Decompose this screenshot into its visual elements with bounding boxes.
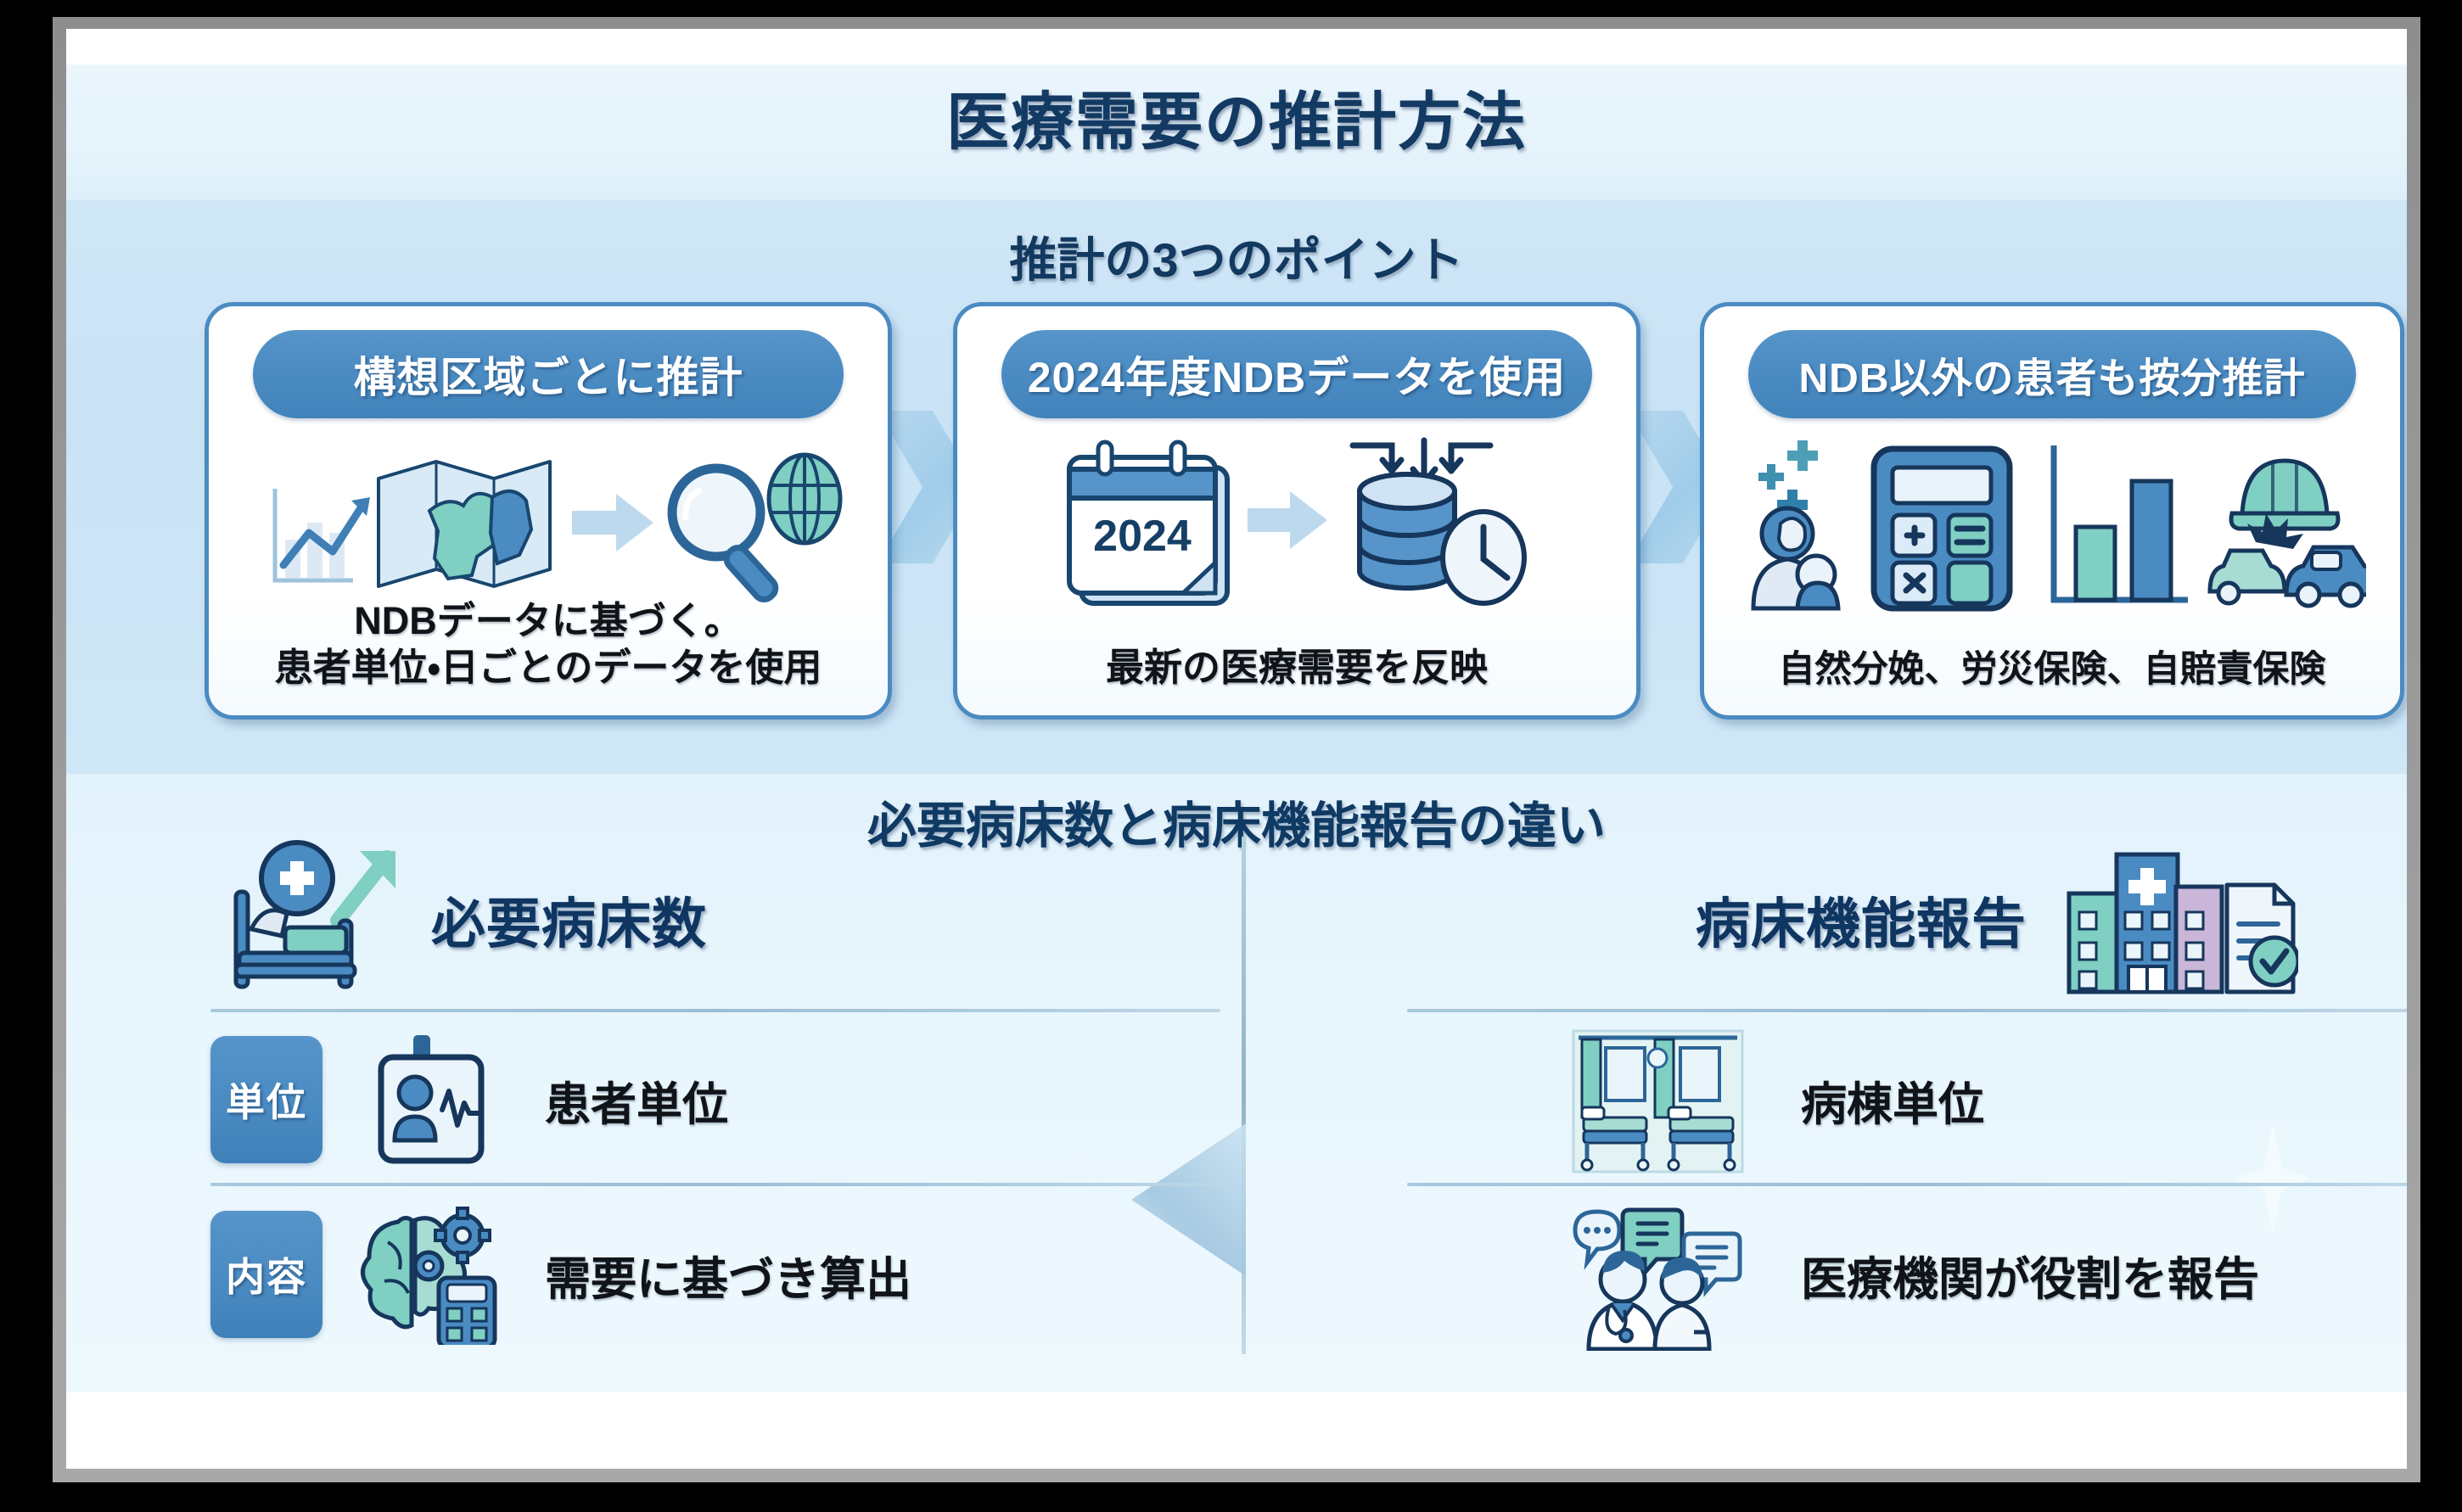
gear-small-icon bbox=[415, 1252, 442, 1280]
compare-right-divider-1 bbox=[1407, 1009, 2407, 1012]
globe-icon bbox=[769, 455, 840, 543]
chart-growth-icon bbox=[275, 489, 370, 580]
point-card-2[interactable]: 2024年度NDBデータを使用 2024 bbox=[953, 302, 1640, 720]
point-card-2-artwork: 2024 bbox=[957, 434, 1636, 612]
clock-icon bbox=[1443, 512, 1524, 603]
point-card-3[interactable]: NDB以外の患者も按分推計 bbox=[1700, 302, 2404, 720]
hospital-building-document-icon bbox=[2061, 839, 2298, 1000]
point-card-1-caption-line1: NDBデータに基づく。 bbox=[229, 598, 867, 645]
points-heading: 推計の3つのポイント bbox=[66, 222, 2407, 291]
card3-illustration bbox=[1738, 434, 2366, 612]
bar-chart-icon bbox=[2054, 445, 2188, 600]
window-content: 医療需要の推計方法 推計の3つのポイント 構想区域ごとに推計 bbox=[66, 29, 2407, 1469]
points-cards: 構想区域ごとに推計 bbox=[66, 302, 2407, 726]
calculator-icon bbox=[1874, 449, 2010, 608]
compare-right-row-1: 病棟単位 bbox=[1390, 1015, 2407, 1184]
compare-column-right: 病床機能報告 bbox=[1390, 835, 2407, 1361]
compare-left-row-2: 内容 bbox=[210, 1190, 1254, 1359]
brain-gear-calculator-icon bbox=[346, 1202, 516, 1347]
compare-right-header: 病床機能報告 bbox=[1390, 835, 2407, 1005]
point-card-2-pill-label: 2024年度NDBデータを使用 bbox=[1028, 344, 1567, 405]
hospital-ward-beds-icon bbox=[1551, 1028, 1764, 1172]
point-card-2-caption-line1: 最新の医療需要を反映 bbox=[978, 645, 1616, 692]
compare-left-row-2-label: 需要に基づき算出 bbox=[545, 1241, 911, 1308]
point-card-1-pill-label: 構想区域ごとに推計 bbox=[354, 344, 743, 405]
card1-illustration bbox=[251, 438, 845, 608]
compare-left-row-1-label: 患者単位 bbox=[545, 1067, 728, 1134]
compare-right-row-2-label: 医療機関が役割を報告 bbox=[1801, 1241, 2259, 1308]
page-title: 医療需要の推計方法 bbox=[66, 71, 2407, 162]
compare-right-title: 病床機能報告 bbox=[1696, 881, 2027, 959]
point-card-3-caption: 自然分娩、労災保険、自賠責保険 bbox=[1725, 647, 2380, 692]
compare-left-badge-1: 単位 bbox=[210, 1036, 322, 1163]
compare-right-row-2: 医療機関が役割を報告 bbox=[1390, 1190, 2407, 1359]
helmet-icon bbox=[2231, 461, 2338, 529]
point-card-3-pill: NDB以外の患者も按分推計 bbox=[1748, 330, 2356, 418]
calendar-year-label: 2024 bbox=[1093, 512, 1192, 561]
point-card-1-pill: 構想区域ごとに推計 bbox=[253, 330, 844, 418]
calendar-icon: 2024 bbox=[1069, 442, 1227, 603]
compare-left-divider-1 bbox=[210, 1009, 1220, 1012]
compare-right-row-1-label: 病棟単位 bbox=[1801, 1067, 1984, 1134]
compare-left-badge-2-label: 内容 bbox=[226, 1246, 307, 1302]
card2-illustration: 2024 bbox=[1025, 434, 1568, 612]
screenshot-stage: 医療需要の推計方法 推計の3つのポイント 構想区域ごとに推計 bbox=[0, 0, 2462, 1512]
point-card-3-artwork bbox=[1704, 434, 2400, 612]
patient-id-card-icon bbox=[346, 1028, 516, 1172]
compare-left-title: 必要病床数 bbox=[431, 881, 707, 959]
point-card-3-caption-line1: 自然分娩、労災保険、自賠責保険 bbox=[1725, 647, 2380, 692]
infographic-canvas: 医療需要の推計方法 推計の3つのポイント 構想区域ごとに推計 bbox=[66, 29, 2407, 1392]
point-card-1[interactable]: 構想区域ごとに推計 bbox=[205, 302, 892, 720]
map-region-icon bbox=[379, 462, 550, 586]
compare-left-badge-1-label: 単位 bbox=[226, 1072, 307, 1128]
arrow-right-icon bbox=[1248, 491, 1327, 549]
compare-left-row-1: 単位 患者単位 bbox=[210, 1015, 1254, 1184]
point-card-1-artwork bbox=[209, 434, 888, 612]
compare-column-left: 必要病床数 単位 患者単位 bbox=[210, 835, 1254, 1361]
arrow-right-icon bbox=[572, 494, 653, 552]
point-card-3-pill-label: NDB以外の患者も按分推計 bbox=[1799, 344, 2306, 404]
mother-baby-icon bbox=[1753, 508, 1838, 608]
database-icon bbox=[1360, 474, 1455, 588]
compare-right-divider-2 bbox=[1407, 1183, 2407, 1186]
point-card-2-pill: 2024年度NDBデータを使用 bbox=[1001, 330, 1592, 418]
point-card-1-caption: NDBデータに基づく。 患者単位・日ごとのデータを使用 bbox=[229, 598, 867, 692]
magnifier-icon bbox=[672, 468, 780, 603]
hospital-bed-growth-icon bbox=[219, 839, 431, 1000]
window-frame: 医療需要の推計方法 推計の3つのポイント 構想区域ごとに推計 bbox=[53, 17, 2420, 1482]
point-card-2-caption: 最新の医療需要を反映 bbox=[978, 645, 1616, 692]
compare-left-badge-2: 内容 bbox=[210, 1211, 322, 1338]
point-card-1-caption-line2: 患者単位・日ごとのデータを使用 bbox=[229, 645, 867, 692]
compare-left-header: 必要病床数 bbox=[210, 835, 1263, 1005]
medical-staff-speech-icon bbox=[1551, 1202, 1764, 1347]
compare-left-divider-2 bbox=[210, 1183, 1220, 1186]
